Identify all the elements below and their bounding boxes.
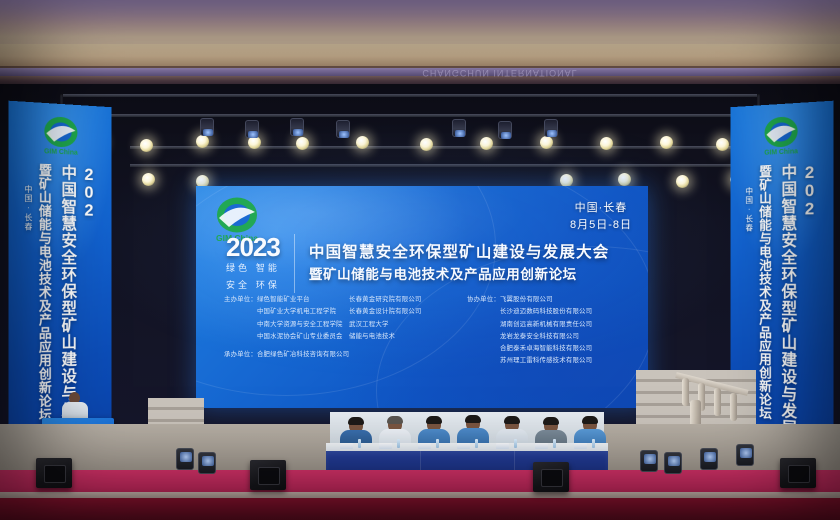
svg-text:GIM China: GIM China <box>44 148 78 157</box>
floor-moving-light <box>198 452 216 474</box>
screen-location-date: 中国·长春 8月5日-8日 <box>570 200 632 234</box>
stage-lamp <box>540 136 553 149</box>
panelist-name-card <box>418 443 431 449</box>
organizer-item: 中国水泥协会矿山专业委员会 <box>257 331 343 343</box>
stage-lamp <box>618 173 631 186</box>
stage-lamp <box>196 135 209 148</box>
panelist-name-card <box>496 443 509 449</box>
screen-slogan-line1: 绿色 智能 <box>226 263 280 277</box>
water-bottle <box>514 439 517 448</box>
ceiling-uplight-glow <box>0 0 840 36</box>
ceiling-beam <box>0 44 840 68</box>
banner-sub-title: 暨矿山储能与电池技术及产品应用创新论坛 <box>755 164 773 441</box>
moving-head-light <box>200 118 214 136</box>
panelist-hair <box>348 417 364 425</box>
panelist-hair <box>387 416 403 424</box>
water-bottle <box>436 439 439 448</box>
organizer-item: 长春黄金设计院有限公司 <box>349 306 422 318</box>
screen-location: 中国·长春 <box>570 200 632 217</box>
panelist-hair <box>426 416 442 424</box>
screen-title-row: 2023 绿色 智能 安全 环保 中国智慧安全环保型矿山建设与发展大会 暨矿山储… <box>226 234 634 293</box>
organizer-item: 长春黄金研究院有限公司 <box>349 294 422 306</box>
left-vertical-led-banner: GIM China 2023 中国智慧安全环保型矿山建设与发展大会 暨矿山储能与… <box>8 101 111 448</box>
moving-head-light <box>245 120 259 138</box>
organizer-item: 中国矿业大学机电工程学院 <box>257 306 343 318</box>
panelist-name-card <box>379 443 392 449</box>
banner-main-title: 中国智慧安全环保型矿山建设与发展大会 <box>775 163 798 443</box>
water-bottle <box>592 439 595 448</box>
lighting-truss-rig <box>0 84 840 194</box>
co-organizer-item: 合肥泰禾卓海智能科技有限公司 <box>500 343 592 355</box>
co-organizer-item: 长沙迪迈数码科技股份有限公司 <box>500 306 592 318</box>
undertaker-label: 承办单位： <box>224 351 257 358</box>
panelist-name-card <box>457 443 470 449</box>
stage-lamp <box>142 173 155 186</box>
moving-head-light <box>498 121 512 139</box>
water-bottle <box>358 439 361 448</box>
screen-dates: 8月5日-8日 <box>570 217 632 234</box>
gim-china-logo: GIM China <box>36 113 85 160</box>
gim-china-logo: GIM China <box>757 113 806 160</box>
panelist-name-card <box>340 443 353 449</box>
truss-rail-lower-bottom <box>130 164 750 167</box>
main-led-screen: GIM China 中国·长春 8月5日-8日 2023 绿色 智能 安全 环保… <box>196 186 648 408</box>
organizer-item: 中南大学资源与安全工程学院 <box>257 319 343 331</box>
undertaker-name: 合肥绿色矿冶科技咨询有限公司 <box>257 351 349 358</box>
host-col2-list: 长春黄金研究院有限公司 长春黄金设计院有限公司 武汉工程大学 储能与电池技术 <box>349 294 422 368</box>
organizer-item: 储能与电池技术 <box>349 331 422 343</box>
panelist-hair <box>504 416 520 424</box>
red-carpet-foreground <box>0 498 840 520</box>
stage-lamp <box>296 137 309 150</box>
panelist-hair <box>582 416 598 424</box>
balustrade-post <box>714 388 721 416</box>
banner-year: 2023 <box>799 162 819 219</box>
moving-head-light <box>290 118 304 136</box>
organizer-item: 绿色智能矿业平台 <box>257 294 343 306</box>
floor-moving-light <box>736 444 754 466</box>
host-organizers-col2: 长春黄金研究院有限公司 长春黄金设计院有限公司 武汉工程大学 储能与电池技术 <box>349 294 467 368</box>
stage-lamp <box>356 136 369 149</box>
svg-text:GIM China: GIM China <box>764 148 798 157</box>
title-divider <box>294 234 295 293</box>
stage-lamp <box>660 136 673 149</box>
floor-monitor-speaker <box>36 458 72 488</box>
co-organizer-item: 龙岩龙泰安全科技有限公司 <box>500 331 592 343</box>
co-organizers-col: 协办单位： 飞翼股份有限公司 长沙迪迈数码科技股份有限公司 湖南创远高新机械有限… <box>467 294 607 368</box>
screen-titles: 中国智慧安全环保型矿山建设与发展大会 暨矿山储能与电池技术及产品应用创新论坛 <box>309 242 610 284</box>
floor-moving-light <box>176 448 194 470</box>
moving-head-light <box>544 119 558 137</box>
banner-location: 中国·长春 <box>23 185 34 445</box>
truss-rail-bottom <box>60 114 760 117</box>
moving-head-light <box>452 119 466 137</box>
moving-head-light <box>336 120 350 138</box>
screen-sub-title: 暨矿山储能与电池技术及产品应用创新论坛 <box>309 265 610 285</box>
panelist-name-card <box>574 443 587 449</box>
floor-moving-light <box>640 450 658 472</box>
screen-slogan-line2: 安全 环保 <box>226 280 280 294</box>
organizer-item: 武汉工程大学 <box>349 319 422 331</box>
banner-year: 2023 <box>79 165 98 221</box>
panelist-name-card <box>535 443 548 449</box>
floor-moving-light <box>664 452 682 474</box>
water-bottle <box>397 439 400 448</box>
ceiling-reflected-sign-text: CHANGCHUN INTERNATIONAL <box>390 66 610 78</box>
water-bottle <box>475 439 478 448</box>
screen-year: 2023 <box>226 234 280 260</box>
balustrade-post <box>682 378 689 406</box>
floor-monitor-speaker <box>533 462 569 492</box>
screen-main-title: 中国智慧安全环保型矿山建设与发展大会 <box>309 242 610 264</box>
venue-ceiling: CHANGCHUN INTERNATIONAL <box>0 0 840 88</box>
stage-lamp <box>716 138 729 151</box>
co-organizer-list: 飞翼股份有限公司 长沙迪迈数码科技股份有限公司 湖南创远高新机械有限责任公司 龙… <box>500 294 592 368</box>
stage-lamp <box>420 138 433 151</box>
truss-rail-top <box>60 94 760 97</box>
panelist-hair <box>465 415 481 423</box>
left-banner-vertical-text: 2023 中国智慧安全环保型矿山建设与发展大会 暨矿山储能与电池技术及产品应用创… <box>8 162 111 445</box>
panelist-hair <box>543 417 559 425</box>
floor-moving-light <box>700 448 718 470</box>
co-organizer-item: 苏州理工雷科传感技术有限公司 <box>500 355 592 367</box>
co-organizer-item: 飞翼股份有限公司 <box>500 294 592 306</box>
co-organizer-item: 湖南创远高新机械有限责任公司 <box>500 319 592 331</box>
co-organizer-label: 协办单位： <box>467 294 500 368</box>
conference-stage-photo: CHANGCHUN INTERNATIONAL GIM <box>0 0 840 520</box>
truss-rail-lower-top <box>130 146 750 149</box>
balustrade-post <box>730 393 737 421</box>
stage-lamp <box>676 175 689 188</box>
screen-year-block: 2023 绿色 智能 安全 环保 <box>226 234 280 293</box>
water-bottle <box>553 439 556 448</box>
floor-monitor-speaker <box>780 458 816 488</box>
banner-sub-title: 暨矿山储能与电池技术及产品应用创新论坛 <box>35 163 54 444</box>
stage-lamp <box>480 137 493 150</box>
floor-monitor-speaker <box>250 460 286 490</box>
screen-undertaker-row: 承办单位：合肥绿色矿冶科技咨询有限公司 <box>224 349 349 358</box>
stage-lamp <box>600 137 613 150</box>
stage-lamp <box>140 139 153 152</box>
